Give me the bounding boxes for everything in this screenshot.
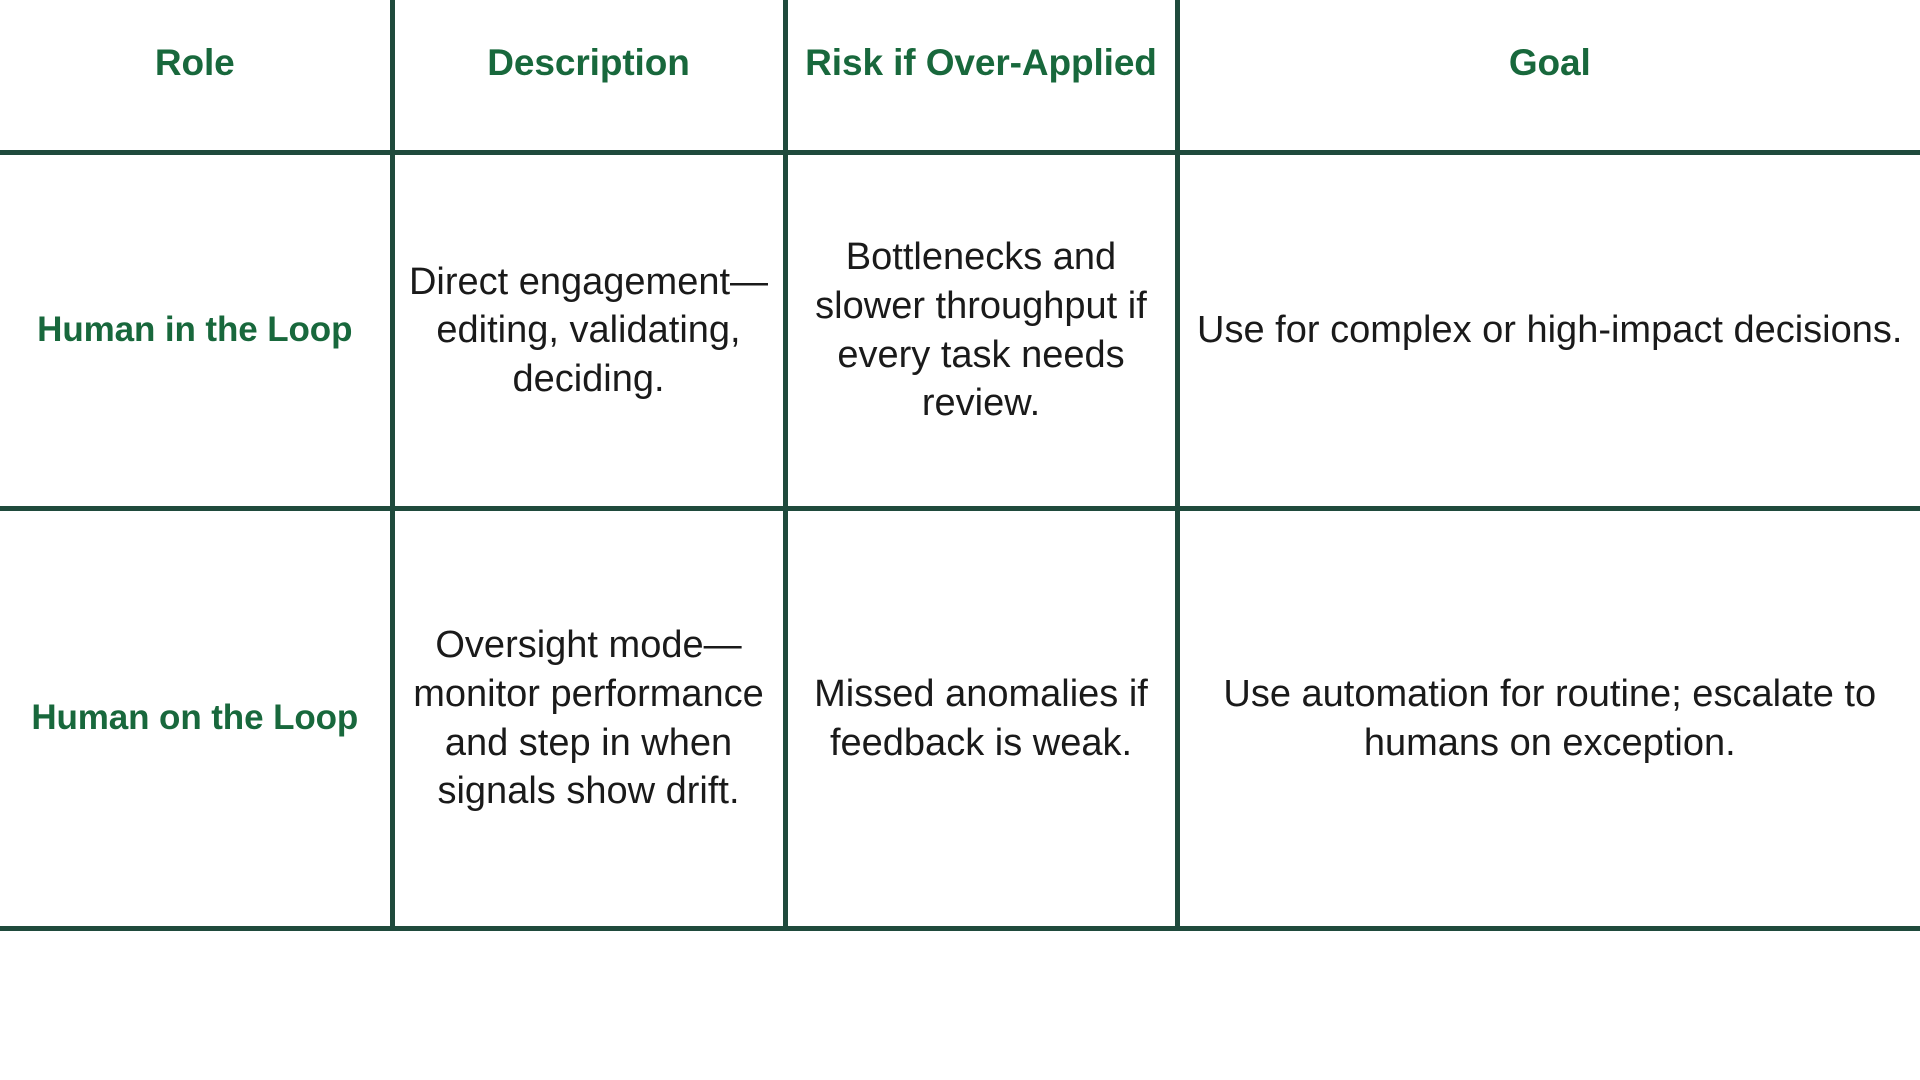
table-row: Human on the Loop Oversight mode—monitor… [0,509,1920,929]
cell-goal: Use automation for routine; escalate to … [1177,509,1920,929]
cell-goal-text: Use for complex or high-impact decisions… [1194,306,1907,355]
column-header-goal: Goal [1177,0,1920,153]
cell-risk-text: Bottlenecks and slower throughput if eve… [802,233,1161,428]
column-header-risk-if-over-applied: Risk if Over-Applied [785,0,1177,153]
cell-role: Human on the Loop [0,509,392,929]
table-body: Human in the Loop Direct engagement—edit… [0,153,1920,929]
table-header-row: Role Description Risk if Over-Applied Go… [0,0,1920,153]
cell-role: Human in the Loop [0,153,392,509]
column-header-description: Description [392,0,785,153]
column-header-role: Role [0,0,392,153]
cell-role-text: Human in the Loop [14,308,376,353]
table-row: Human in the Loop Direct engagement—edit… [0,153,1920,509]
cell-role-text: Human on the Loop [14,696,376,741]
comparison-table-container: Role Description Risk if Over-Applied Go… [0,0,1920,1080]
cell-risk: Missed anomalies if feedback is weak. [785,509,1177,929]
cell-risk-text: Missed anomalies if feedback is weak. [802,670,1161,767]
cell-description-text: Direct engagement—editing, validating, d… [409,258,769,404]
cell-description: Direct engagement—editing, validating, d… [392,153,785,509]
cell-description: Oversight mode—monitor performance and s… [392,509,785,929]
cell-goal-text: Use automation for routine; escalate to … [1194,670,1907,767]
cell-description-text: Oversight mode—monitor performance and s… [409,621,769,816]
human-oversight-comparison-table: Role Description Risk if Over-Applied Go… [0,0,1920,931]
cell-goal: Use for complex or high-impact decisions… [1177,153,1920,509]
table-header: Role Description Risk if Over-Applied Go… [0,0,1920,153]
cell-risk: Bottlenecks and slower throughput if eve… [785,153,1177,509]
